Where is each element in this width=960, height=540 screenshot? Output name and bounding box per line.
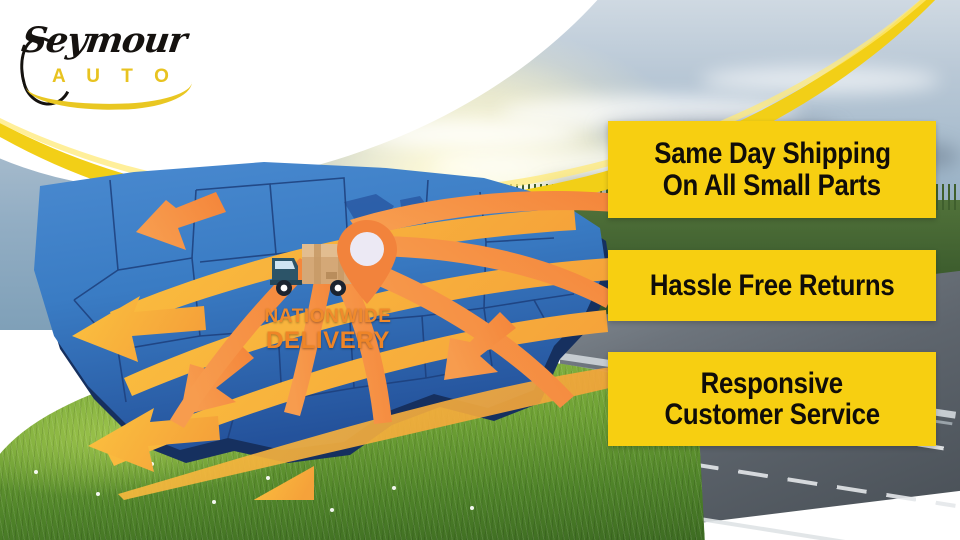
nationwide-delivery-label: NATIONWIDE DELIVERY: [258, 307, 398, 353]
wildflower: [212, 500, 216, 504]
brand-name: Seymour: [19, 20, 189, 61]
banner-line: Hassle Free Returns: [650, 270, 895, 301]
banner-line: On All Small Parts: [663, 170, 881, 201]
banner-line: Same Day Shipping: [654, 138, 890, 169]
delivery-text: DELIVERY: [258, 329, 398, 353]
banner-responsive-customer-service[interactable]: Responsive Customer Service: [608, 352, 936, 446]
wildflower: [470, 506, 474, 510]
promo-banner-stage: Seymour A U T O: [0, 0, 960, 540]
banner-line: Customer Service: [664, 399, 879, 430]
banner-hassle-free-returns[interactable]: Hassle Free Returns: [608, 250, 936, 321]
map-location-pin-icon: [336, 218, 398, 306]
brand-subtitle: A U T O: [52, 66, 177, 88]
brand-logo[interactable]: Seymour A U T O: [18, 14, 228, 96]
wildflower: [330, 508, 334, 512]
banner-line: Responsive: [701, 368, 843, 399]
banner-same-day-shipping[interactable]: Same Day Shipping On All Small Parts: [608, 121, 936, 218]
nationwide-text: NATIONWIDE: [258, 307, 398, 326]
